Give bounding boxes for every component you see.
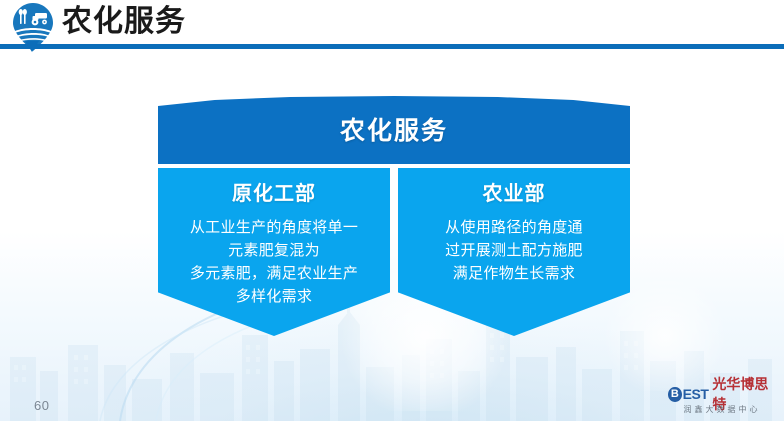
org-structure-diagram: 农化服务 原化工部 从工业生产的角度将单一 元素肥复混为 多元素肥，满足农业生产… xyxy=(158,96,630,336)
best-circle-logo-icon: B xyxy=(668,387,682,402)
diagram-top-banner: 农化服务 xyxy=(158,96,630,164)
slide-canvas: 农化服务 农化服务 原化工部 从工业生产的角度将单一 元素肥复混为 多元素肥，满… xyxy=(0,0,784,421)
card-body-line: 从使用路径的角度通 xyxy=(406,216,622,239)
card-body-line: 多元素肥，满足农业生产 xyxy=(166,262,382,285)
card-body-line: 多样化需求 xyxy=(166,285,382,308)
card-body-line: 过开展测土配方施肥 xyxy=(406,239,622,262)
card-body-left: 从工业生产的角度将单一 元素肥复混为 多元素肥，满足农业生产 多样化需求 xyxy=(158,216,390,308)
slide-header: 农化服务 xyxy=(0,0,784,48)
diagram-top-banner-label: 农化服务 xyxy=(158,114,630,148)
footer-logo-row-primary: B EST 光华博思特 xyxy=(668,385,776,403)
card-body-line: 元素肥复混为 xyxy=(166,239,382,262)
page-title: 农化服务 xyxy=(62,3,186,41)
page-number: 60 xyxy=(34,398,49,413)
card-title-left: 原化工部 xyxy=(158,179,390,209)
card-body-line: 从工业生产的角度将单一 xyxy=(166,216,382,239)
header-divider xyxy=(0,44,784,49)
card-body-line: 满足作物生长需求 xyxy=(406,262,622,285)
diagram-card-left[interactable]: 原化工部 从工业生产的角度将单一 元素肥复混为 多元素肥，满足农业生产 多样化需… xyxy=(158,168,390,336)
card-body-right: 从使用路径的角度通 过开展测土配方施肥 满足作物生长需求 xyxy=(398,216,630,285)
footer-logo-latin: EST xyxy=(683,386,709,402)
footer-logo-subtitle: 润鑫大数据中心 xyxy=(668,404,776,415)
footer-brand-logo: B EST 光华博思特 润鑫大数据中心 xyxy=(668,385,776,415)
card-title-right: 农业部 xyxy=(398,179,630,209)
diagram-card-row: 原化工部 从工业生产的角度将单一 元素肥复混为 多元素肥，满足农业生产 多样化需… xyxy=(158,168,630,336)
diagram-card-right[interactable]: 农业部 从使用路径的角度通 过开展测土配方施肥 满足作物生长需求 xyxy=(398,168,630,336)
